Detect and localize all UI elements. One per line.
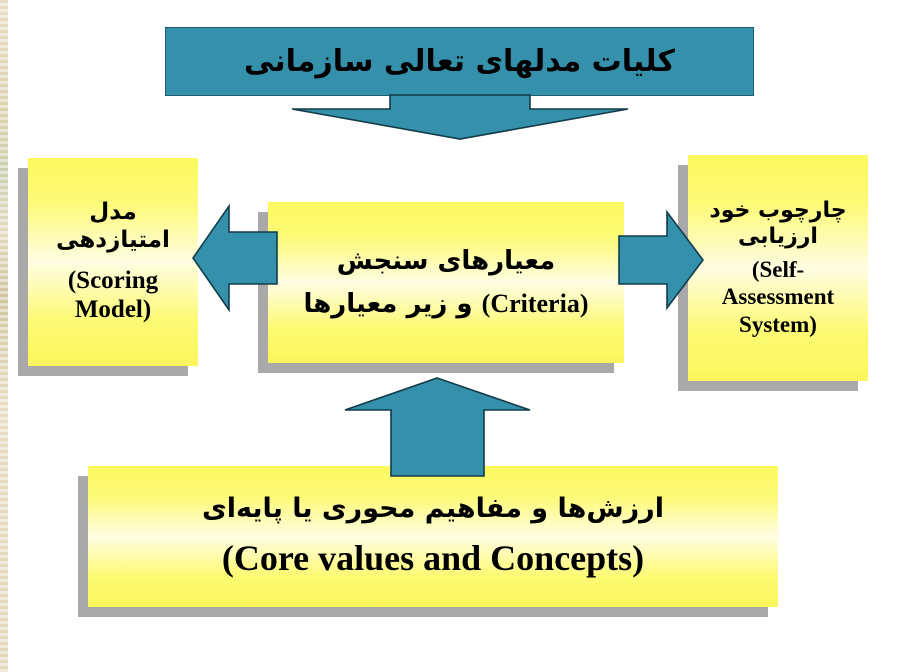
arrow-right-icon <box>619 212 703 308</box>
criteria-rtl-tail: و زير معيارها <box>304 289 473 319</box>
node-scoring-model-content: مدل امتيازدهی (Scoring Model) <box>28 199 198 324</box>
diagram-title-banner: كليات مدلهای تعالی سازمانی <box>165 27 754 96</box>
core-values-en-line: (Core values and Concepts) <box>94 537 772 579</box>
node-criteria: معيارهای سنجش (Criteria) و زير معيارها <box>268 202 624 363</box>
self-assessment-en-line-1: (Self- <box>694 256 862 284</box>
scoring-en-line-1: (Scoring <box>34 266 192 296</box>
self-assessment-fa-line-2: ارزيابی <box>694 224 862 250</box>
scoring-spacer <box>34 254 192 266</box>
node-scoring-model: مدل امتيازدهی (Scoring Model) <box>28 158 198 366</box>
criteria-fa-line: معيارهای سنجش <box>274 246 618 277</box>
node-core-values: ارزش‌ها و مفاهيم محوری يا پايه‌ای (Core … <box>88 466 778 607</box>
scoring-fa-line-2: امتيازدهی <box>34 227 192 254</box>
arrow-down-icon <box>292 95 628 139</box>
criteria-latin-term: (Criteria) <box>482 289 589 318</box>
scoring-fa-line-1: مدل <box>34 199 192 226</box>
node-self-assessment-content: چارچوب خود ارزيابی (Self- Assessment Sys… <box>688 198 868 339</box>
self-assessment-en-line-2: Assessment <box>694 283 862 311</box>
self-assessment-en-line-3: System) <box>694 311 862 339</box>
page-edge-strip <box>0 0 8 672</box>
core-values-spacer <box>94 525 772 537</box>
arrow-left-icon <box>193 206 277 310</box>
self-assessment-fa-line-1: چارچوب خود <box>694 198 862 224</box>
diagram-canvas: كليات مدلهای تعالی سازمانی مدل امتيازدهی… <box>0 0 908 672</box>
page-title: كليات مدلهای تعالی سازمانی <box>171 44 748 79</box>
criteria-mixed-line: (Criteria) و زير معيارها <box>274 289 618 320</box>
criteria-spacer <box>274 277 618 289</box>
node-criteria-content: معيارهای سنجش (Criteria) و زير معيارها <box>268 246 624 319</box>
core-values-fa-line: ارزش‌ها و مفاهيم محوری يا پايه‌ای <box>94 493 772 525</box>
arrow-up-icon <box>345 378 530 476</box>
scoring-en-line-2: Model) <box>34 295 192 325</box>
title-banner-content: كليات مدلهای تعالی سازمانی <box>165 44 754 79</box>
node-core-values-content: ارزش‌ها و مفاهيم محوری يا پايه‌ای (Core … <box>88 493 778 579</box>
node-self-assessment: چارچوب خود ارزيابی (Self- Assessment Sys… <box>688 155 868 381</box>
